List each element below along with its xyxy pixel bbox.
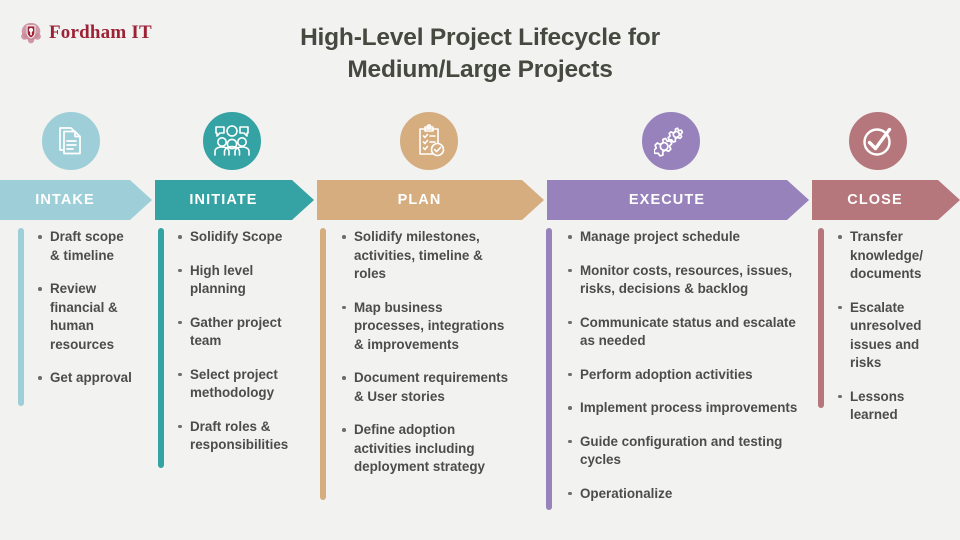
stage-label-close: CLOSE [812, 180, 938, 220]
list-item: Solidify Scope [176, 228, 303, 247]
stage-chevron-close[interactable]: CLOSE [812, 180, 960, 220]
list-item: Perform adoption activities [566, 366, 814, 385]
list-item: Manage project schedule [566, 228, 814, 247]
stage-label-execute: EXECUTE [547, 180, 787, 220]
list-item: High level planning [176, 262, 303, 299]
list-item: Review financial & human resources [36, 280, 148, 354]
check-circle-icon [861, 124, 895, 158]
stage-details-initiate: Solidify Scope High level planning Gathe… [158, 228, 303, 455]
gears-icon [654, 125, 688, 157]
bullet-list-execute: Manage project schedule Monitor costs, r… [566, 228, 814, 503]
list-item: Get approval [36, 369, 148, 388]
list-item: Select project methodology [176, 366, 303, 403]
stage-label-initiate: INITIATE [155, 180, 292, 220]
stage-chevron-execute[interactable]: EXECUTE [547, 180, 809, 220]
bullet-list-close: Transfer knowledge/ documents Escalate u… [836, 228, 948, 425]
documents-icon [54, 124, 88, 158]
stage-details-execute: Manage project schedule Monitor costs, r… [546, 228, 814, 503]
column-rule-initiate [158, 228, 164, 468]
list-item: Operationalize [566, 485, 814, 504]
stage-icon-badge-execute [638, 108, 704, 174]
list-item: Solidify milestones, activities, timelin… [340, 228, 532, 284]
stage-details-plan: Solidify milestones, activities, timelin… [320, 228, 532, 477]
column-rule-close [818, 228, 824, 408]
fordham-shield-icon [18, 20, 44, 46]
bullet-list-plan: Solidify milestones, activities, timelin… [340, 228, 532, 477]
header: Fordham IT High-Level Project Lifecycle … [0, 0, 960, 108]
list-item: Lessons learned [836, 388, 948, 425]
bullet-list-intake: Draft scope & timeline Review financial … [36, 228, 148, 388]
stage-label-intake: INTAKE [0, 180, 130, 220]
column-rule-intake [18, 228, 24, 406]
fordham-it-logo: Fordham IT [18, 20, 152, 46]
list-item: Escalate unresolved issues and risks [836, 299, 948, 373]
list-item: Define adoption activities including dep… [340, 421, 532, 477]
stage-icon-badge-plan [396, 108, 462, 174]
list-item: Document requirements & User stories [340, 369, 532, 406]
logo-wordmark: Fordham IT [49, 22, 152, 44]
lifecycle-stage-strip: INTAKE INITIATE [0, 108, 960, 220]
page-title-line2: Medium/Large Projects [230, 54, 730, 86]
stage-chevron-plan[interactable]: PLAN [317, 180, 544, 220]
list-item: Communicate status and escalate as neede… [566, 314, 814, 351]
stage-icon-badge-initiate [199, 108, 265, 174]
list-item: Draft roles & responsibilities [176, 418, 303, 455]
list-item: Implement process improvements [566, 399, 814, 418]
stage-icon-badge-close [845, 108, 911, 174]
list-item: Gather project team [176, 314, 303, 351]
stage-details-intake: Draft scope & timeline Review financial … [18, 228, 148, 388]
list-item: Transfer knowledge/ documents [836, 228, 948, 284]
stage-chevron-intake[interactable]: INTAKE [0, 180, 152, 220]
column-rule-execute [546, 228, 552, 510]
stage-details-close: Transfer knowledge/ documents Escalate u… [818, 228, 948, 425]
page-title: High-Level Project Lifecycle for Medium/… [230, 22, 730, 87]
page-title-line1: High-Level Project Lifecycle for [230, 22, 730, 54]
team-discussion-icon [214, 124, 250, 158]
list-item: Monitor costs, resources, issues, risks,… [566, 262, 814, 299]
column-rule-plan [320, 228, 326, 500]
list-item: Guide configuration and testing cycles [566, 433, 814, 470]
stage-chevron-initiate[interactable]: INITIATE [155, 180, 314, 220]
stage-label-plan: PLAN [317, 180, 522, 220]
list-item: Draft scope & timeline [36, 228, 148, 265]
bullet-list-initiate: Solidify Scope High level planning Gathe… [176, 228, 303, 455]
stage-icon-badge-intake [38, 108, 104, 174]
list-item: Map business processes, integrations & i… [340, 299, 532, 355]
clipboard-checklist-icon [412, 124, 446, 158]
